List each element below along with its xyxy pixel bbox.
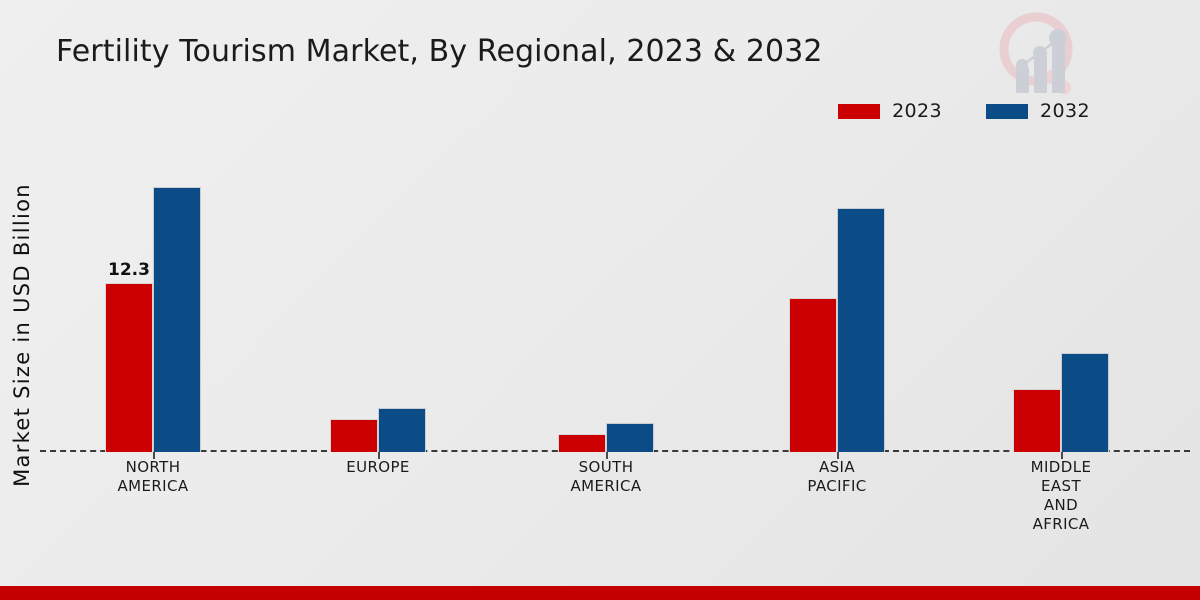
- bar-middle-east-and-africa-2032[interactable]: [1061, 353, 1109, 452]
- bar-north-america-2032[interactable]: [153, 187, 201, 452]
- legend-label-2023: 2023: [892, 100, 942, 122]
- magnifier-bar-chart-logo-icon: [990, 5, 1090, 105]
- bar-south-america-2032[interactable]: [606, 423, 654, 452]
- bar-south-america-2023[interactable]: [558, 434, 606, 452]
- y-axis-title: Market Size in USD Billion: [10, 170, 34, 500]
- bar-north-america-2023[interactable]: 12.3: [105, 283, 153, 452]
- bar-middle-east-and-africa-2023[interactable]: [1013, 389, 1061, 452]
- legend-item-2023[interactable]: 2023: [838, 100, 942, 122]
- page-title: Fertility Tourism Market, By Regional, 2…: [56, 34, 823, 69]
- bar-value-label-north-america-2023: 12.3: [108, 260, 150, 280]
- bars-north-america: 12.3: [105, 150, 201, 452]
- category-label-asia-pacific: ASIAPACIFIC: [727, 458, 947, 496]
- bar-asia-pacific-2032[interactable]: [837, 208, 885, 452]
- chart-legend: 2023 2032: [838, 100, 1090, 122]
- bar-europe-2032[interactable]: [378, 408, 426, 452]
- chart-page: Fertility Tourism Market, By Regional, 2…: [0, 0, 1200, 600]
- bar-asia-pacific-2023[interactable]: [789, 298, 837, 452]
- category-label-middle-east-and-africa: MIDDLEEASTANDAFRICA: [951, 458, 1171, 534]
- category-label-north-america: NORTHAMERICA: [43, 458, 263, 496]
- category-label-south-america: SOUTHAMERICA: [496, 458, 716, 496]
- bars-europe: [330, 150, 426, 452]
- bottom-accent-strip: [0, 586, 1200, 600]
- legend-item-2032[interactable]: 2032: [986, 100, 1090, 122]
- bars-asia-pacific: [789, 150, 885, 452]
- bars-middle-east-and-africa: [1013, 150, 1109, 452]
- legend-swatch-2023: [838, 104, 880, 119]
- bars-south-america: [558, 150, 654, 452]
- bar-europe-2023[interactable]: [330, 419, 378, 452]
- plot-area: 12.3NORTHAMERICAEUROPESOUTHAMERICAASIAPA…: [40, 150, 1190, 452]
- legend-label-2032: 2032: [1040, 100, 1090, 122]
- legend-swatch-2032: [986, 104, 1028, 119]
- category-label-europe: EUROPE: [268, 458, 488, 477]
